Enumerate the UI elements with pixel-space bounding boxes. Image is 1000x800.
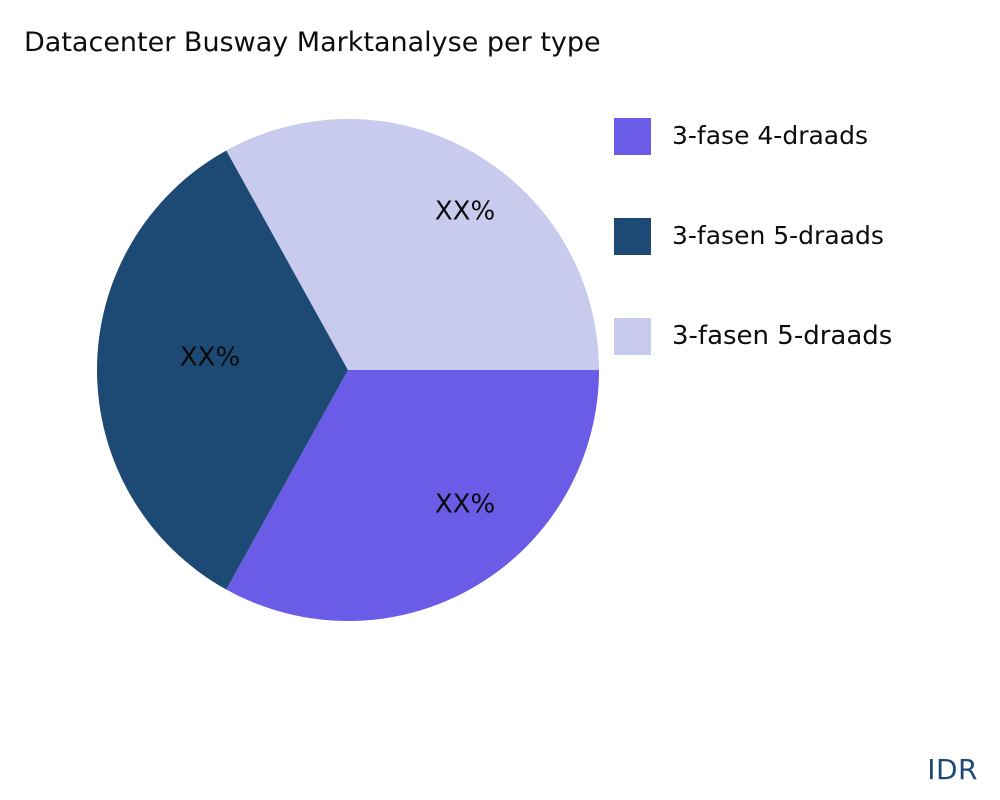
legend-item-label: 3-fase 4-draads	[672, 112, 868, 160]
pie-slice-data-label: XX%	[180, 343, 240, 373]
legend-item-label: 3-fasen 5-draads	[672, 212, 884, 260]
pie-chart-figure: Datacenter Busway Marktanalyse per type …	[0, 0, 1000, 800]
pie-chart-svg: XX%XX%XX%	[0, 0, 640, 700]
watermark-label: IDR	[927, 753, 978, 786]
pie-chart-plot-area: XX%XX%XX%	[0, 0, 640, 700]
legend-swatch-icon	[614, 218, 651, 255]
legend: 3-fase 4-draads 3-fasen 5-draads 3-fasen…	[614, 112, 984, 412]
legend-swatch-icon	[614, 118, 651, 155]
pie-slice-data-label: XX%	[435, 490, 495, 520]
legend-item-3-fasen-5-draads-a[interactable]: 3-fasen 5-draads	[614, 212, 984, 312]
legend-swatch-icon	[614, 318, 651, 355]
pie-slice-data-label: XX%	[435, 197, 495, 227]
legend-item-label: 3-fasen 5-draads	[672, 312, 892, 360]
legend-item-3-fase-4-draads[interactable]: 3-fase 4-draads	[614, 112, 984, 212]
legend-item-3-fasen-5-draads-b[interactable]: 3-fasen 5-draads	[614, 312, 984, 412]
pie-slices-group	[97, 119, 599, 621]
